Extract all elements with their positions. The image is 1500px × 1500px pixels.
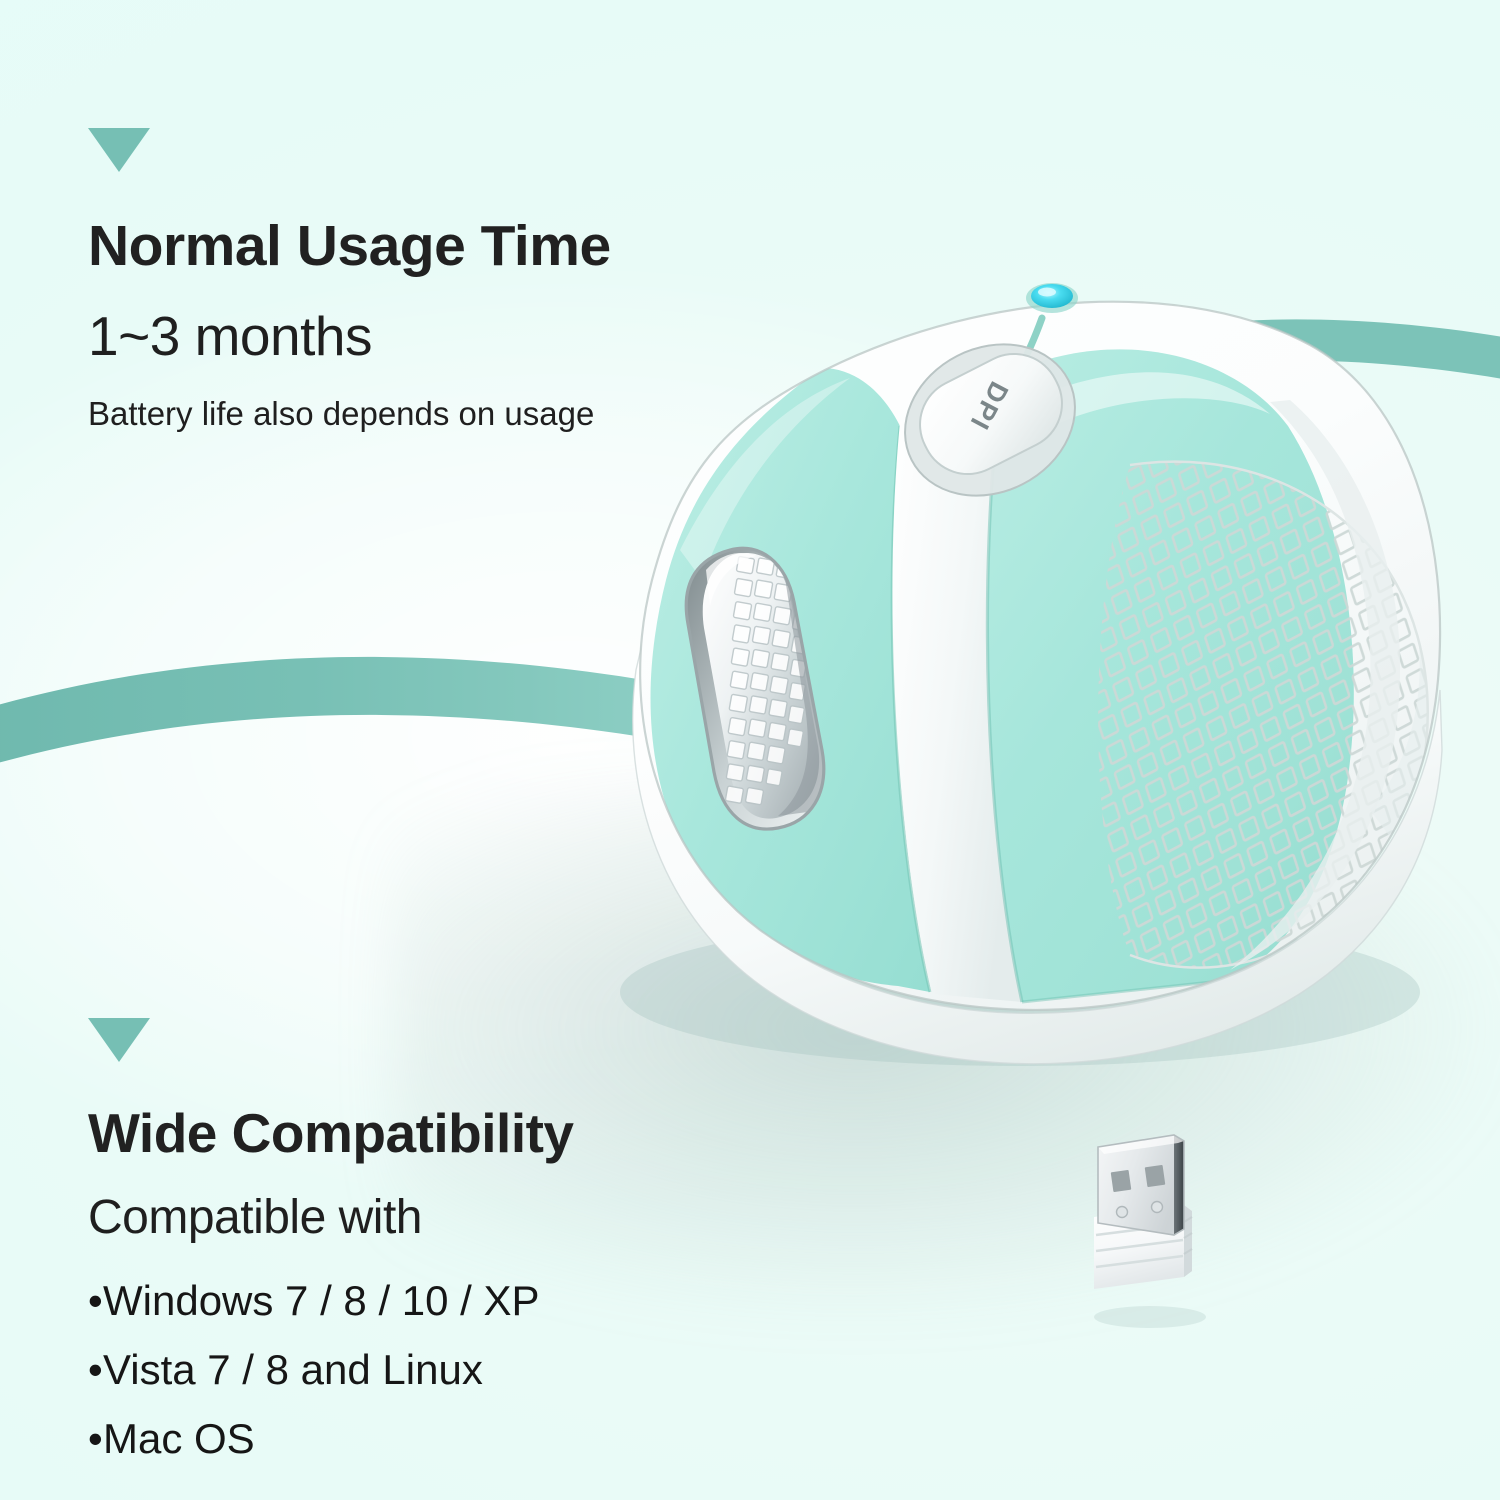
list-item: •Windows 7 / 8 / 10 / XP (88, 1280, 574, 1322)
feature-block-usage: Normal Usage Time 1~3 months Battery lif… (88, 128, 611, 430)
triangle-down-icon (88, 1018, 150, 1062)
usage-value: 1~3 months (88, 309, 611, 364)
product-feature-image: DPI (0, 0, 1500, 1500)
usage-heading: Normal Usage Time (88, 218, 611, 275)
status-led (1026, 283, 1078, 313)
list-item: •Vista 7 / 8 and Linux (88, 1349, 574, 1391)
bullet-icon: • (88, 1418, 103, 1460)
usb-cutout-right (1145, 1165, 1166, 1187)
list-item-label: Windows 7 / 8 / 10 / XP (103, 1277, 540, 1324)
usb-metal-connector (1098, 1135, 1184, 1235)
list-item-label: Vista 7 / 8 and Linux (103, 1346, 483, 1393)
list-item: •Mac OS (88, 1418, 574, 1460)
usb-cutout-left (1111, 1170, 1132, 1192)
bullet-icon: • (88, 1349, 103, 1391)
usb-shadow (1094, 1306, 1206, 1328)
compat-heading: Wide Compatibility (88, 1106, 574, 1161)
compat-list: •Windows 7 / 8 / 10 / XP •Vista 7 / 8 an… (88, 1280, 574, 1460)
bullet-icon: • (88, 1280, 103, 1322)
feature-block-compatibility: Wide Compatibility Compatible with •Wind… (88, 1018, 574, 1487)
list-item-label: Mac OS (103, 1415, 255, 1462)
usage-note: Battery life also depends on usage (88, 397, 611, 430)
compat-subheading: Compatible with (88, 1194, 574, 1242)
usb-receiver-illustration (1050, 1125, 1250, 1335)
triangle-down-icon (88, 128, 150, 172)
